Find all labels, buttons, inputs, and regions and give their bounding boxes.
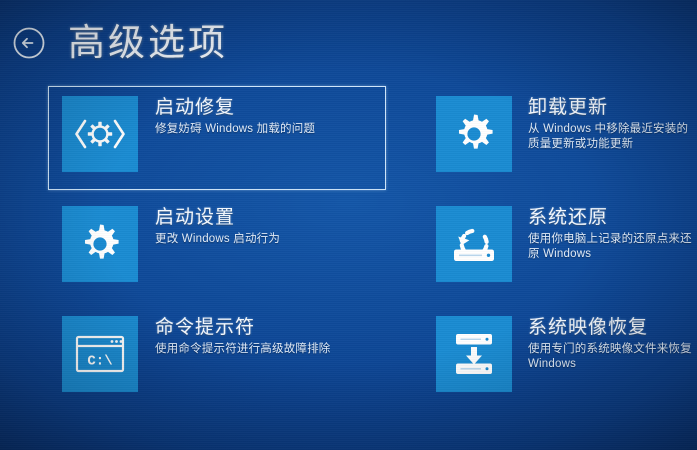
option-description: 使用你电脑上记录的还原点来还原 Windows (528, 232, 697, 262)
option-text: 系统还原 使用你电脑上记录的还原点来还原 Windows (512, 192, 697, 262)
option-description: 更改 Windows 启动行为 (155, 232, 280, 247)
option-text: 启动修复 修复妨碍 Windows 加载的问题 (138, 82, 315, 137)
back-button[interactable] (12, 26, 46, 60)
option-system-restore[interactable]: 系统还原 使用你电脑上记录的还原点来还原 Windows (420, 192, 697, 302)
page-title: 高级选项 (68, 24, 228, 61)
option-command-prompt[interactable]: C:\ 命令提示符 使用命令提示符进行高级故障排除 (62, 302, 397, 412)
option-uninstall-updates[interactable]: 卸载更新 从 Windows 中移除最近安装的质量更新或功能更新 (420, 82, 697, 192)
gear-icon (76, 220, 124, 268)
advanced-options-grid: 启动修复 修复妨碍 Windows 加载的问题 启动设置 更改 Windows … (0, 82, 697, 450)
system-restore-circular-arrow-drive-icon (448, 219, 500, 269)
option-description: 修复妨碍 Windows 加载的问题 (155, 122, 315, 137)
command-prompt-icon-tile: C:\ (62, 316, 138, 392)
startup-repair-gear-brackets-icon (71, 114, 129, 154)
command-prompt-window-icon: C:\ (74, 333, 126, 375)
option-title: 启动设置 (155, 206, 280, 229)
option-title: 系统还原 (528, 206, 697, 229)
page-header: 高级选项 (0, 0, 697, 82)
options-column-right: 卸载更新 从 Windows 中移除最近安装的质量更新或功能更新 系统还原 使用… (420, 82, 697, 412)
system-image-recovery-icon-tile (436, 316, 512, 392)
option-title: 启动修复 (155, 96, 315, 119)
gear-icon (450, 110, 498, 158)
option-description: 从 Windows 中移除最近安装的质量更新或功能更新 (528, 122, 697, 152)
option-system-image-recovery[interactable]: 系统映像恢复 使用专门的系统映像文件来恢复 Windows (420, 302, 697, 412)
back-arrow-circle-icon (12, 26, 46, 60)
system-restore-icon-tile (436, 206, 512, 282)
option-description: 使用专门的系统映像文件来恢复 Windows (528, 342, 697, 372)
option-startup-repair[interactable]: 启动修复 修复妨碍 Windows 加载的问题 (62, 82, 397, 192)
system-image-recovery-drives-arrow-icon (449, 329, 499, 379)
svg-text:C:\: C:\ (87, 354, 112, 370)
option-text: 启动设置 更改 Windows 启动行为 (138, 192, 280, 247)
option-title: 系统映像恢复 (528, 316, 697, 339)
option-description: 使用命令提示符进行高级故障排除 (155, 342, 331, 357)
option-text: 卸载更新 从 Windows 中移除最近安装的质量更新或功能更新 (512, 82, 697, 152)
startup-repair-icon-tile (62, 96, 138, 172)
option-startup-settings[interactable]: 启动设置 更改 Windows 启动行为 (62, 192, 397, 302)
options-column-left: 启动修复 修复妨碍 Windows 加载的问题 启动设置 更改 Windows … (62, 82, 397, 412)
option-title: 卸载更新 (528, 96, 697, 119)
startup-settings-icon-tile (62, 206, 138, 282)
option-title: 命令提示符 (155, 316, 331, 339)
uninstall-updates-icon-tile (436, 96, 512, 172)
option-text: 命令提示符 使用命令提示符进行高级故障排除 (138, 302, 331, 357)
option-text: 系统映像恢复 使用专门的系统映像文件来恢复 Windows (512, 302, 697, 372)
